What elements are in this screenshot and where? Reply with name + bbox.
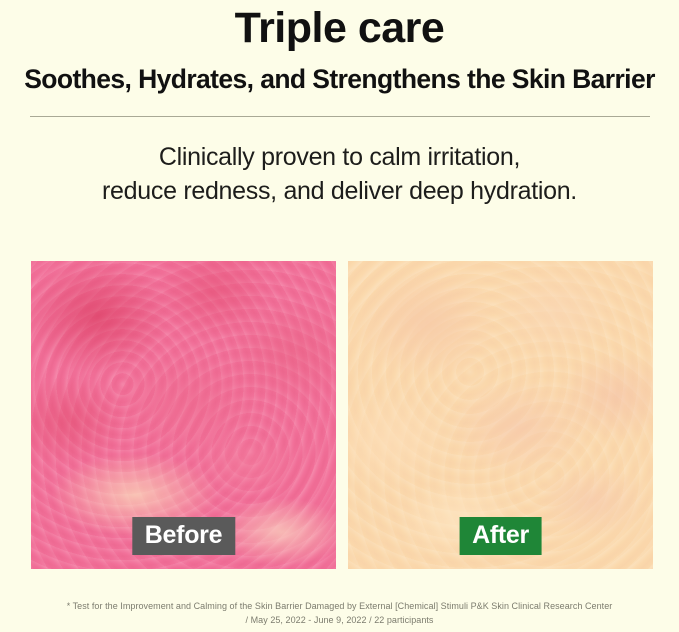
footnote: * Test for the Improvement and Calming o… (0, 600, 679, 627)
after-badge: After (459, 517, 542, 555)
lead-copy: Clinically proven to calm irritation, re… (0, 141, 679, 208)
after-image: After (348, 261, 653, 569)
before-badge: Before (132, 517, 235, 555)
before-after-comparison: Before After (31, 261, 653, 569)
footnote-line-1: * Test for the Improvement and Calming o… (0, 600, 679, 614)
before-image: Before (31, 261, 336, 569)
page-subtitle: Soothes, Hydrates, and Strengthens the S… (0, 65, 679, 94)
lead-copy-line-2: reduce redness, and deliver deep hydrati… (0, 175, 679, 208)
promo-page: Triple care Soothes, Hydrates, and Stren… (0, 6, 679, 632)
lead-copy-line-1: Clinically proven to calm irritation, (0, 141, 679, 174)
horizontal-divider (30, 116, 650, 117)
page-title: Triple care (0, 6, 679, 51)
footnote-line-2: / May 25, 2022 - June 9, 2022 / 22 parti… (0, 614, 679, 628)
